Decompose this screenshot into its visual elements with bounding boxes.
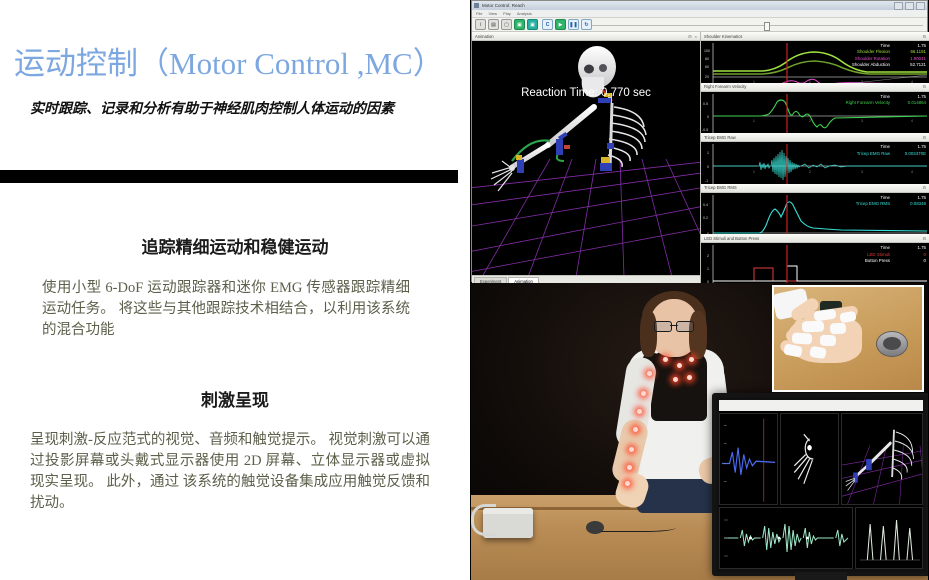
chart-1-legend: Time1.75 Shoulder Flexion66.1191 Shoulde… [852, 43, 926, 69]
chart-4-title: Tricep EMG RMS [704, 185, 737, 190]
svg-text:0: 0 [707, 165, 709, 169]
svg-text:0.4: 0.4 [703, 203, 708, 207]
chart-3-title: Tricep EMG Raw [704, 135, 736, 140]
motor-control-app-window: Motor Control: Reach File View Play Anal… [471, 0, 928, 282]
reset-icon[interactable]: ↻ [581, 19, 592, 30]
divider-bar [0, 170, 458, 183]
svg-text:60: 60 [705, 65, 709, 69]
skeleton-3d-viewport[interactable]: Reaction Time: 0.770 sec [472, 41, 700, 275]
legend-value: 0 [900, 258, 926, 264]
animation-pane: Animation ⊟ × [472, 32, 701, 285]
monitor-waveform-svg [720, 414, 777, 504]
animation-pane-header: Animation ⊟ × [472, 32, 700, 41]
timeline-slider-handle[interactable] [764, 22, 770, 31]
chart-tricep-emg-rms: Tricep EMG RMS ⊟ 0.40.20-0.2 [701, 184, 929, 235]
marker-dot [629, 447, 634, 452]
participant-hair-left [640, 311, 657, 357]
minimize-button[interactable] [894, 2, 903, 10]
participant-jeans [637, 479, 717, 513]
play-icon[interactable]: ▶ [555, 19, 566, 30]
pane-pin-icon[interactable]: ⊟ × [688, 34, 698, 39]
legend-name: Button Press [865, 258, 890, 264]
monitor-lower-row [719, 507, 923, 569]
svg-text:3: 3 [861, 170, 863, 174]
section-1-body: 使用小型 6-DoF 运动跟踪器和迷你 EMG 传感器跟踪精细运动任务。 将这些… [42, 278, 410, 341]
slide-canvas: 运动控制（Motor Control ,MC） 实时跟踪、记录和分析有助于神经肌… [0, 0, 929, 580]
chart-4-header: Tricep EMG RMS ⊟ [701, 184, 929, 193]
section-2-body: 呈现刺激-反应范式的视觉、音频和触觉提示。 视觉刺激可以通过投影屏幕或头戴式显示… [30, 430, 430, 514]
monitor-emg-cell [719, 507, 853, 569]
monitor-stand [795, 572, 847, 580]
chart-3-header: Tricep EMG Raw ⊟ [701, 133, 929, 142]
capture-teal-icon[interactable]: ▣ [527, 19, 538, 30]
skeleton-3d-scene [472, 41, 700, 275]
svg-text:2: 2 [809, 170, 811, 174]
marker-dot [673, 377, 678, 382]
marker-dot [641, 391, 646, 396]
marker-dot [637, 409, 642, 414]
reaction-time-label: Reaction Time: 0.770 sec [472, 87, 700, 99]
window-controls[interactable] [894, 2, 925, 10]
svg-text:20: 20 [705, 75, 709, 79]
device-cable [471, 504, 496, 536]
charts-pane: Shoulder Kinematics ⊟ 10080 [701, 32, 929, 285]
table-wire [601, 521, 676, 532]
svg-text:100: 100 [704, 49, 710, 53]
monitor-hand-skeleton-cell [780, 413, 839, 505]
svg-text:0.2: 0.2 [703, 216, 708, 220]
app-panes: Animation ⊟ × [472, 32, 927, 285]
inset-finger-wrap [792, 332, 813, 344]
slide-left-pane: 运动控制（Motor Control ,MC） 实时跟踪、记录和分析有助于神经肌… [0, 0, 470, 580]
chart-right-forearm-velocity: Right Forearm Velocity ⊟ 0.50-0.5 1234 [701, 83, 929, 134]
monitor-app-topbar [719, 400, 923, 411]
menu-analysis[interactable]: Analysis [517, 11, 532, 16]
svg-text:-1: -1 [705, 179, 708, 183]
svg-text:0.5: 0.5 [703, 102, 708, 106]
marker-dot [647, 371, 652, 376]
chart-4-legend: Time1.75 Tricep EMG RMS0.08349 [856, 195, 926, 208]
svg-text:1: 1 [753, 119, 755, 123]
svg-text:3: 3 [861, 119, 863, 123]
chart-2-pin-icon[interactable]: ⊟ [923, 84, 927, 89]
chart-3-plot[interactable]: 10-1 1234 T [701, 142, 929, 184]
inset-finger-wrap [830, 322, 847, 334]
chart-5-legend: Time1.75 LED Stimuli0 Button Press0 [865, 245, 926, 264]
monitor-upper-row [719, 413, 923, 505]
chart-1-plot[interactable]: 10080 6020 0-20 12 34 [701, 41, 929, 83]
toolbar[interactable]: i ▤ ▢ ▣ ▣ C ▶ ❚❚ ↻ [472, 18, 927, 32]
marker-dot [627, 465, 632, 470]
svg-text:-0.5: -0.5 [702, 128, 708, 132]
inset-puck-center [883, 337, 901, 350]
chart-2-header: Right Forearm Velocity ⊟ [701, 83, 929, 92]
refresh-icon[interactable]: C [542, 19, 553, 30]
chart-tricep-emg-raw: Tricep EMG Raw ⊟ 10-1 1234 [701, 133, 929, 184]
app-icon [474, 3, 479, 8]
svg-text:1: 1 [707, 151, 709, 155]
chart-5-header: LED Stimuli and Button Press ⊟ [701, 234, 929, 243]
menubar[interactable]: File View Play Analysis [472, 10, 927, 18]
marker-dot [633, 427, 638, 432]
chart-shoulder-kinematics: Shoulder Kinematics ⊟ 10080 [701, 32, 929, 83]
animation-pane-title: Animation [475, 34, 494, 39]
chart-2-plot[interactable]: 0.50-0.5 1234 Time1.75 Right Forearm Vel… [701, 92, 929, 134]
svg-text:4: 4 [911, 119, 913, 123]
monitor-3d-svg [842, 414, 922, 504]
monitor-waveform-cell [719, 413, 778, 505]
svg-text:2: 2 [809, 119, 811, 123]
chart-5-plot[interactable]: 210 1234 Time1.75 LED Stimuli0 Button Pr… [701, 243, 929, 285]
record-green-icon[interactable]: ▣ [514, 19, 525, 30]
participant-glasses [654, 321, 694, 330]
slide-right-pane: Motor Control: Reach File View Play Anal… [470, 0, 929, 580]
monitor-peaks-cell [855, 507, 923, 569]
chart-2-legend: Time1.75 Right Forearm Velocity0.014864 [846, 94, 926, 107]
menu-play[interactable]: Play [503, 11, 511, 16]
close-button[interactable] [916, 2, 925, 10]
section-2-heading: 刺激呈现 [0, 386, 470, 411]
chart-1-title: Shoulder Kinematics [704, 34, 742, 39]
monitor-3d-skeleton-cell [841, 413, 923, 505]
chart-2-title: Right Forearm Velocity [704, 84, 746, 89]
inset-finger-wrap [820, 335, 836, 347]
monitor-screen [719, 400, 923, 569]
marker-dot [687, 375, 692, 380]
chart-3-legend: Time1.75 Tricep EMG Raw0.003470E [857, 144, 926, 157]
pause-icon[interactable]: ❚❚ [568, 19, 579, 30]
chart-5-pin-icon[interactable]: ⊟ [923, 236, 927, 241]
svg-text:0: 0 [707, 115, 709, 119]
inset-sensor-puck [876, 331, 908, 357]
chart-5-title: LED Stimuli and Button Press [704, 236, 759, 241]
page-subtitle: 实时跟踪、记录和分析有助于神经肌肉控制人体运动的因素 [30, 98, 460, 118]
window-titlebar[interactable]: Motor Control: Reach [472, 1, 927, 10]
legend-name: Tricep EMG RMS [856, 201, 890, 207]
window-title: Motor Control: Reach [482, 3, 525, 8]
marker-dot [677, 363, 682, 368]
chart-4-plot[interactable]: 0.40.20-0.2 Time1.75 Tricep EMG RMS0.083… [701, 193, 929, 235]
chart-4-pin-icon[interactable]: ⊟ [923, 185, 927, 190]
chart-1-header: Shoulder Kinematics ⊟ [701, 32, 929, 41]
svg-text:2: 2 [707, 254, 709, 258]
legend-name: Tricep EMG Raw [857, 151, 890, 157]
info-icon[interactable]: i [475, 19, 486, 30]
inset-finger-wrap [802, 321, 824, 333]
legend-value: 0.003470E [900, 151, 926, 157]
marker-dot [689, 357, 694, 362]
monitor-peaks-svg [856, 508, 922, 568]
chart-led-stimuli-button-press: LED Stimuli and Button Press ⊟ 210 1234 [701, 234, 929, 285]
legend-name: Shoulder Abduction [852, 62, 890, 68]
legend-value: 0.08349 [900, 201, 926, 207]
legend-name: Right Forearm Velocity [846, 100, 890, 106]
svg-text:1: 1 [707, 267, 709, 271]
lab-photo [471, 283, 928, 580]
legend-value: 52.7121 [900, 62, 926, 68]
new-window-icon[interactable]: ▢ [501, 19, 512, 30]
svg-text:1: 1 [753, 170, 755, 174]
participant-hair-right [689, 311, 707, 359]
monitor-emg-svg [720, 508, 852, 568]
menu-view[interactable]: View [488, 11, 497, 16]
lab-monitor [712, 393, 928, 576]
svg-text:4: 4 [911, 170, 913, 174]
monitor-hand-svg [781, 414, 838, 504]
chart-3-pin-icon[interactable]: ⊟ [923, 135, 927, 140]
svg-text:80: 80 [705, 57, 709, 61]
timeline-slider[interactable] [592, 25, 923, 26]
marker-dot [663, 357, 668, 362]
page-title: 运动控制（Motor Control ,MC） [14, 38, 464, 83]
save-icon[interactable]: ▤ [488, 19, 499, 30]
hand-sensors-inset-photo [772, 285, 924, 392]
chart-1-pin-icon[interactable]: ⊟ [923, 34, 927, 39]
menu-file[interactable]: File [476, 11, 482, 16]
maximize-button[interactable] [905, 2, 914, 10]
legend-value: 0.014864 [900, 100, 926, 106]
section-1-heading: 追踪精细运动和稳健运动 [0, 233, 470, 258]
marker-dot [625, 481, 630, 486]
